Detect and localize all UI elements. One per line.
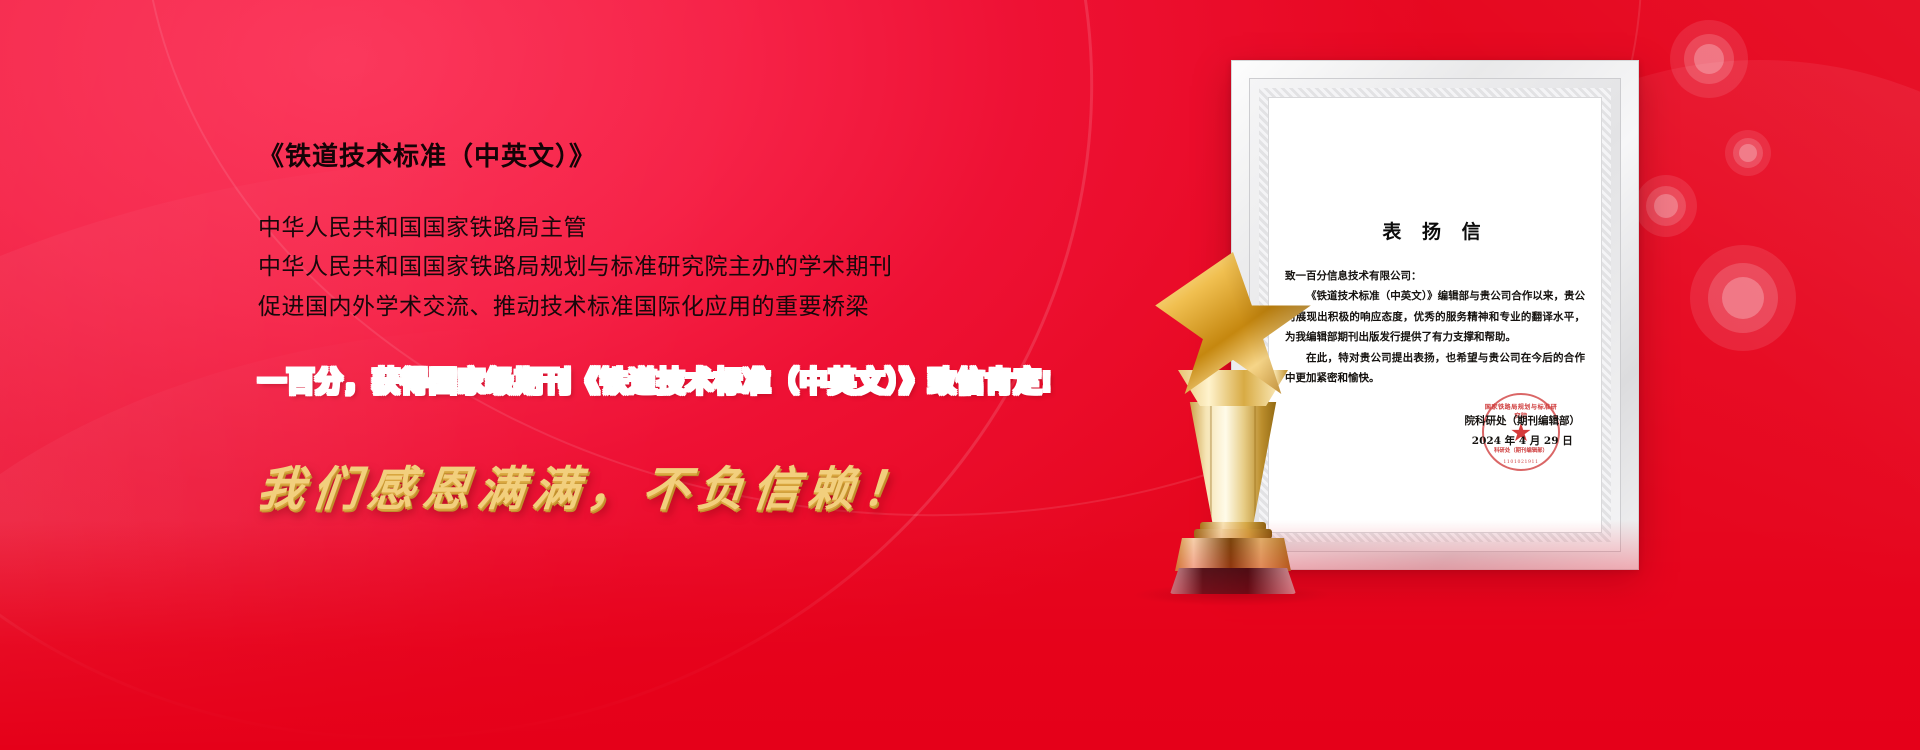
certificate-salutation: 致一百分信息技术有限公司： [1285,266,1585,286]
banner-copy: 《铁道技术标准（中英文）》 中华人民共和国国家铁路局主管 中华人民共和国国家铁路… [258,140,1218,519]
seal-number-text: 1101021911 [1484,460,1558,465]
description-line: 中华人民共和国国家铁路局主管 [258,208,1218,248]
description-line: 中华人民共和国国家铁路局规划与标准研究院主办的学术期刊 [258,247,1218,287]
trophy-cone [1188,402,1278,527]
headline-text: 一百分，获得国家级期刊《铁道技术标准（中英文）》致信肯定! [258,360,1218,400]
bottom-fade [0,520,1920,750]
description-lines: 中华人民共和国国家铁路局主管 中华人民共和国国家铁路局规划与标准研究院主办的学术… [258,208,1218,327]
certificate-title: 表 扬 信 [1285,217,1585,244]
signature-date: 2024 年 4 月 29 日 [1465,432,1581,452]
star-trophy-icon [1148,252,1318,562]
award-banner: 《铁道技术标准（中英文）》 中华人民共和国国家铁路局主管 中华人民共和国国家铁路… [0,0,1920,750]
certificate-paragraph: 《铁道技术标准（中英文）》编辑部与贵公司合作以来，贵公司展现出积极的响应态度，优… [1285,286,1585,347]
bokeh-circle [1725,130,1771,176]
bokeh-circle [1670,20,1748,98]
signature-organization: 院科研处（期刊编辑部） [1465,412,1581,432]
bokeh-circle [1690,245,1796,351]
description-line: 促进国内外学术交流、推动技术标准国际化应用的重要桥梁 [258,287,1218,327]
calligraphy-slogan: 我们感恩满满，不负信赖！ [254,450,1221,519]
certificate-paragraph: 在此，特对贵公司提出表扬，也希望与贵公司在今后的合作中更加紧密和愉快。 [1285,348,1585,389]
bokeh-circle [1635,175,1697,237]
signature-block: 院科研处（期刊编辑部） 2024 年 4 月 29 日 [1465,412,1581,452]
journal-title: 《铁道技术标准（中英文）》 [258,140,1218,174]
